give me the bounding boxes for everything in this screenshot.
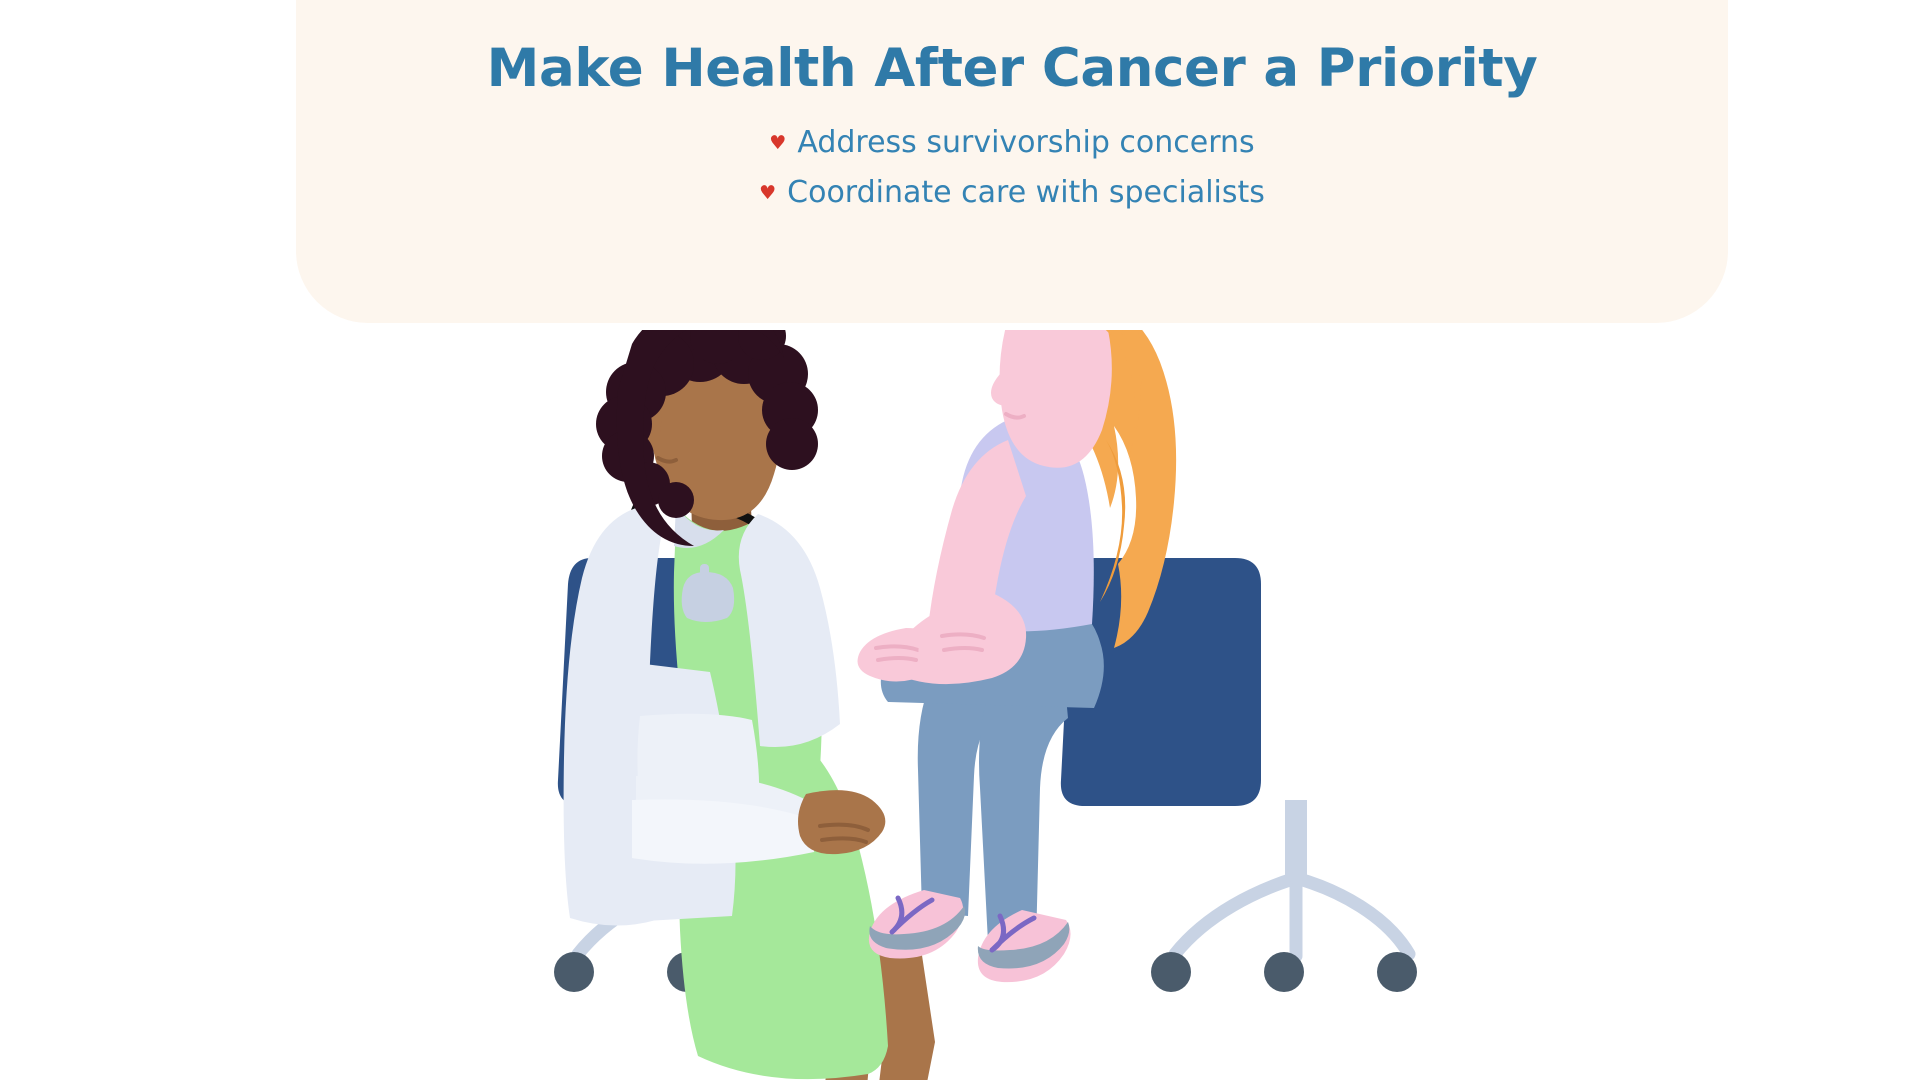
list-item: ♥ Address survivorship concerns [769,124,1254,162]
heart-bullet-icon: ♥ [769,134,786,153]
caster-wheel [1264,952,1304,992]
doctor-pocket-pen [700,564,709,580]
caster-wheel [554,952,594,992]
header-card: Make Health After Cancer a Priority ♥ Ad… [296,0,1728,323]
caster-wheel [1377,952,1417,992]
list-item-label: Coordinate care with specialists [787,174,1265,212]
list-item-label: Address survivorship concerns [797,124,1254,162]
patient-sandal-far [869,890,965,958]
doctor-coat-pocket [682,572,734,622]
header-content: Make Health After Cancer a Priority ♥ Ad… [296,0,1728,211]
clinician-figure [564,330,956,1080]
consultation-illustration [0,330,1920,1080]
chair-right-base [1175,878,1409,956]
slide-canvas: Make Health After Cancer a Priority ♥ Ad… [0,0,1920,1080]
caster-wheel [1151,952,1191,992]
chair-right-post [1285,800,1307,880]
heart-bullet-icon: ♥ [759,184,776,203]
page-title: Make Health After Cancer a Priority [296,0,1728,98]
list-item: ♥ Coordinate care with specialists [759,174,1265,212]
key-points-list: ♥ Address survivorship concerns ♥ Coordi… [296,124,1728,211]
chair-right [1061,558,1417,992]
doctor-hand [798,790,885,854]
patient-nose [991,374,1010,406]
